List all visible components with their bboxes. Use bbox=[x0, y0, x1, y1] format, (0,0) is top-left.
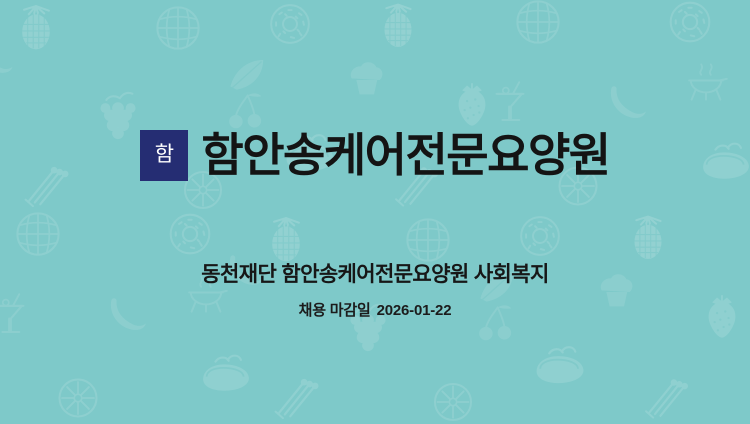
deadline-label: 채용 마감일 bbox=[299, 302, 371, 319]
application-deadline: 채용 마감일2026-01-22 bbox=[299, 302, 452, 320]
deadline-date: 2026-01-22 bbox=[377, 302, 452, 319]
title-row: 함 함안송케어전문요양원 bbox=[140, 100, 609, 210]
page-title: 함안송케어전문요양원 bbox=[201, 131, 609, 179]
org-subtitle: 동천재단 함안송케어전문요양원 사회복지 bbox=[201, 262, 548, 287]
job-posting-banner: 함 함안송케어전문요양원 동천재단 함안송케어전문요양원 사회복지 채용 마감일… bbox=[0, 0, 750, 424]
banner-content: 함 함안송케어전문요양원 동천재단 함안송케어전문요양원 사회복지 채용 마감일… bbox=[0, 0, 750, 424]
org-initial-badge: 함 bbox=[140, 130, 188, 181]
